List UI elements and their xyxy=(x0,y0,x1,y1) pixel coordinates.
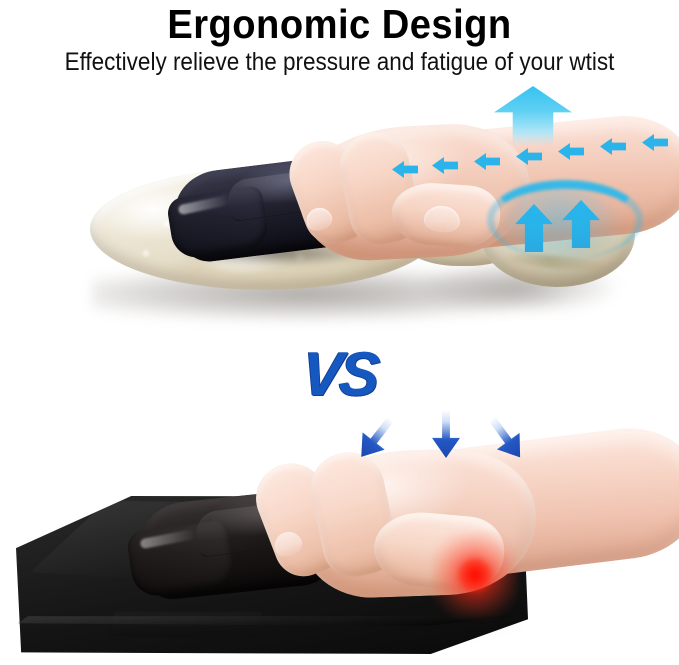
page-subtitle: Effectively relieve the pressure and fat… xyxy=(34,47,645,77)
flat-pad-scene xyxy=(0,404,679,665)
vs-divider-label: VS xyxy=(8,344,671,406)
page-title: Ergonomic Design xyxy=(24,0,655,47)
product-comparison-poster: Ergonomic Design Effectively relieve the… xyxy=(0,0,679,665)
header: Ergonomic Design Effectively relieve the… xyxy=(0,0,679,77)
ergonomic-pad-scene xyxy=(0,88,679,318)
pressure-point-core xyxy=(458,558,492,592)
